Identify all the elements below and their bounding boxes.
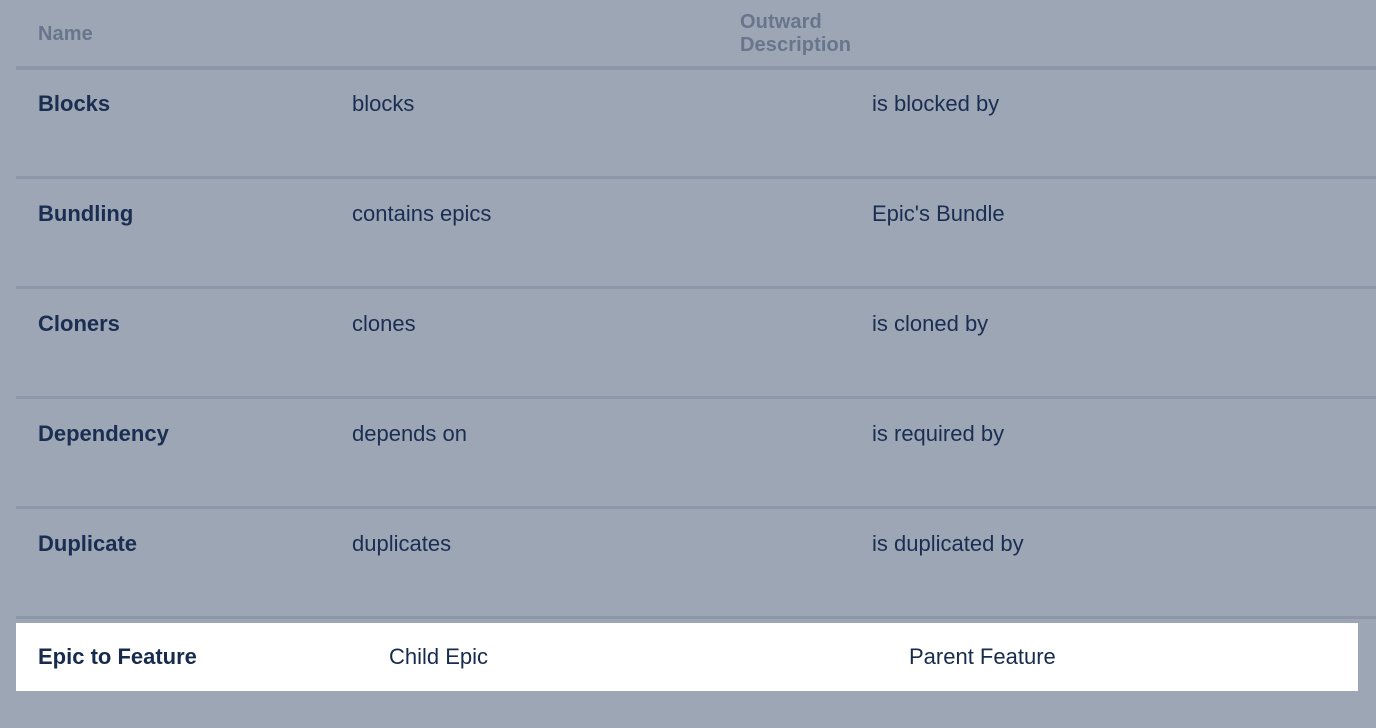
cell-outward-description: duplicates xyxy=(351,508,871,618)
cell-outward-description: contains epics xyxy=(351,178,871,288)
page-root: Name Outward Description Inward Descript… xyxy=(0,0,1376,721)
link-type-inward: is blocked by xyxy=(871,68,1376,117)
link-type-name: Blocks xyxy=(0,68,351,117)
cell-name: Bundling xyxy=(0,178,351,288)
link-type-inward: is duplicated by xyxy=(871,508,1376,557)
cell-outward-description: blocks xyxy=(351,68,871,178)
table-row-divider xyxy=(16,396,1376,399)
column-header-outward-description[interactable]: Outward Description xyxy=(351,0,871,68)
column-header-inward-description-label: Inward Description xyxy=(871,11,1376,57)
table-row[interactable]: Dependency depends on is required by xyxy=(0,398,1376,508)
cell-name: Dependency xyxy=(0,398,351,508)
table-row[interactable]: Cloners clones is cloned by xyxy=(0,288,1376,398)
highlighted-link-type-name: Epic to Feature xyxy=(38,623,197,691)
table-header-row: Name Outward Description Inward Descript… xyxy=(0,0,1376,68)
link-type-outward: duplicates xyxy=(351,508,871,557)
link-type-name: Duplicate xyxy=(0,508,351,557)
cell-inward-description: is required by xyxy=(871,398,1376,508)
cell-outward-description: depends on xyxy=(351,398,871,508)
cell-name: Cloners xyxy=(0,288,351,398)
table-row-divider xyxy=(16,616,1376,619)
cell-outward-description: clones xyxy=(351,288,871,398)
table-row-divider xyxy=(16,176,1376,179)
table-row-divider xyxy=(16,286,1376,289)
link-type-outward: clones xyxy=(351,288,871,337)
highlighted-link-type-inward: Parent Feature xyxy=(909,623,1056,691)
table-row[interactable]: Duplicate duplicates is duplicated by xyxy=(0,508,1376,618)
table-row[interactable]: Blocks blocks is blocked by xyxy=(0,68,1376,178)
cell-inward-description: is blocked by xyxy=(871,68,1376,178)
cell-inward-description: is duplicated by xyxy=(871,508,1376,618)
link-type-outward: contains epics xyxy=(351,178,871,227)
table-row-divider xyxy=(16,506,1376,509)
link-type-name: Dependency xyxy=(0,398,351,447)
highlighted-table-row[interactable]: Epic to Feature Child Epic Parent Featur… xyxy=(16,623,1358,691)
column-header-inward-description[interactable]: Inward Description xyxy=(871,0,1376,68)
link-type-outward: blocks xyxy=(351,68,871,117)
column-header-outward-description-label: Outward Description xyxy=(351,11,871,57)
link-type-name: Bundling xyxy=(0,178,351,227)
link-type-outward: depends on xyxy=(351,398,871,447)
cell-name: Blocks xyxy=(0,68,351,178)
column-header-name-label: Name xyxy=(0,23,351,46)
cell-inward-description: Epic's Bundle xyxy=(871,178,1376,288)
table-header-divider xyxy=(16,66,1376,70)
column-header-name[interactable]: Name xyxy=(0,0,351,68)
link-type-inward: is required by xyxy=(871,398,1376,447)
cell-inward-description: is cloned by xyxy=(871,288,1376,398)
table-row[interactable]: Bundling contains epics Epic's Bundle xyxy=(0,178,1376,288)
highlighted-link-type-outward: Child Epic xyxy=(389,623,488,691)
table-header: Name Outward Description Inward Descript… xyxy=(0,0,1376,68)
link-type-inward: is cloned by xyxy=(871,288,1376,337)
link-type-name: Cloners xyxy=(0,288,351,337)
cell-name: Duplicate xyxy=(0,508,351,618)
link-type-inward: Epic's Bundle xyxy=(871,178,1376,227)
